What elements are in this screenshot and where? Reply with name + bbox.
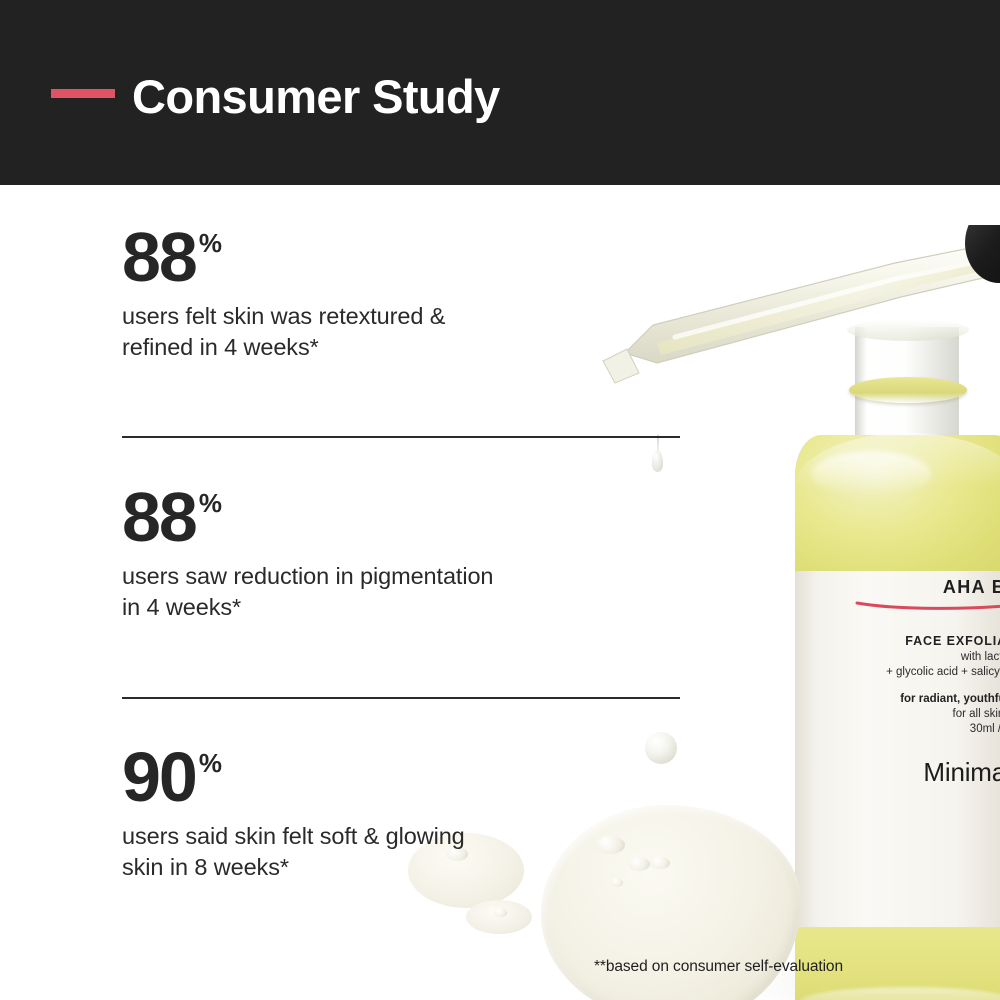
divider — [122, 697, 680, 699]
bottle-label-text: AHA BHA 10% FACE EXFOLIATOR with lactic … — [795, 185, 1000, 945]
brand-name: Minimalist — [923, 757, 1000, 788]
stats-list: 88 % users felt skin was retextured & re… — [0, 185, 700, 1000]
stat-unit: % — [199, 490, 222, 516]
divider — [122, 436, 680, 438]
stat-value: 88 — [122, 227, 196, 287]
stat-unit: % — [199, 750, 222, 776]
label-swoosh-icon — [855, 598, 1000, 608]
stat-item: 88 % users saw reduction in pigmentation… — [122, 487, 493, 624]
swoosh-svg — [855, 601, 1000, 611]
stat-item: 88 % users felt skin was retextured & re… — [122, 227, 445, 364]
label-product-type: FACE EXFOLIATOR — [905, 634, 1000, 648]
footnote-text: **based on consumer self-evaluation — [594, 958, 843, 976]
stat-value: 88 — [122, 487, 196, 547]
stat-description: users saw reduction in pigmentation in 4… — [122, 561, 493, 624]
stat-value-row: 88 % — [122, 227, 445, 287]
label-volume: 30ml / 1 fl oz — [970, 723, 1000, 735]
page-title: Consumer Study — [132, 72, 500, 122]
bottle-base-rim — [799, 987, 1000, 1000]
accent-bar-icon — [51, 89, 115, 98]
label-benefit-line-1: for radiant, youthful skin — [900, 693, 1000, 705]
stat-description: users said skin felt soft & glowing skin… — [122, 821, 465, 884]
stat-value: 90 — [122, 747, 196, 807]
label-acid-name: AHA BHA — [943, 577, 1000, 598]
stat-item: 90 % users said skin felt soft & glowing… — [122, 747, 465, 884]
label-ingredient-line-1: with lactic acid — [961, 651, 1000, 663]
header-banner: Consumer Study — [0, 0, 1000, 185]
label-ingredient-line-2: + glycolic acid + salicylic acid — [886, 666, 1000, 678]
stat-unit: % — [199, 230, 222, 256]
infographic-canvas: Consumer Study — [0, 0, 1000, 1000]
stat-description: users felt skin was retextured & refined… — [122, 301, 445, 364]
stat-value-row: 88 % — [122, 487, 493, 547]
stat-value-row: 90 % — [122, 747, 465, 807]
label-benefit-line-2: for all skin types — [953, 708, 1000, 720]
